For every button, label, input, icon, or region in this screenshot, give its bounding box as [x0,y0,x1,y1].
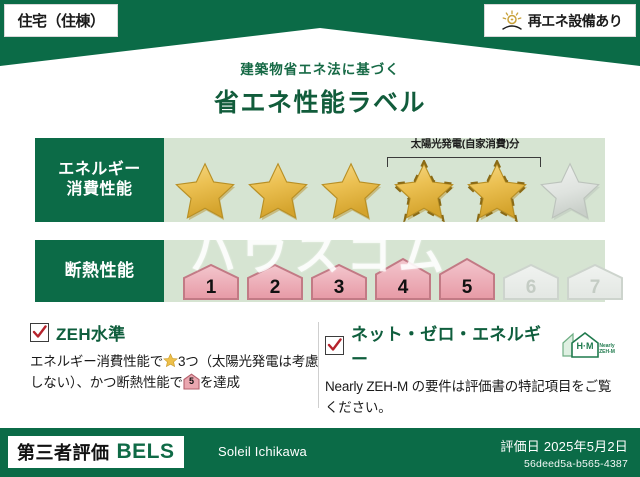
inline-star-icon [163,353,178,368]
insulation-grade-value: 1 [181,278,241,297]
title-subtitle: 建築物省エネ法に基づく [0,58,640,78]
star-filled [170,160,240,222]
svg-text:ZEH-M: ZEH-M [599,349,615,355]
zeh-title: ZEH水準 [56,320,126,345]
nze-checkbox [325,336,344,355]
bels-badge: 第三者評価 BELS [8,436,184,468]
zeh-standard-section: ZEH水準 エネルギー消費性能で3つ（太陽光発電は考慮しない）、かつ断熱性能で5… [30,320,320,394]
star-filled [243,160,313,222]
insulation-grade-2: 2 [245,262,305,302]
renewable-equipment-label: 再エネ設備あり [528,11,623,31]
svg-text:H·M: H·M [577,341,594,351]
insulation-grade-4: 4 [373,256,433,302]
insulation-performance-label: 断熱性能 [35,240,164,302]
insulation-grade-5: 5 [437,256,497,302]
energy-label-line2: 消費性能 [66,180,132,200]
zeh-checkbox [30,323,49,342]
insulation-grade-3: 3 [309,262,369,302]
nze-description: Nearly ZEH-M の要件は評価書の特記項目をご覧ください。 [325,377,617,419]
insulation-grade-value: 6 [501,278,561,297]
bels-jp-label: 第三者評価 [17,439,110,465]
insulation-performance-row: 断熱性能 1234567 [35,240,605,302]
star-solar [462,160,532,222]
evaluation-date: 評価日 2025年5月2日 [500,436,628,455]
insulation-label-text: 断熱性能 [65,260,135,282]
insulation-grade-scale: 1234567 [181,240,625,302]
net-zero-energy-section: ネット・ゼロ・エネルギー H·M Nearly ZEH-M Nearly ZEH… [325,320,617,419]
energy-performance-label: エネルギー 消費性能 [35,138,164,222]
energy-performance-row: エネルギー 消費性能 太陽光発電(自家消費)分 [35,138,605,222]
title-main: 省エネ性能ラベル [0,83,640,119]
footer-bar: 第三者評価 BELS Soleil Ichikawa 評価日 2025年5月2日… [0,428,640,477]
energy-star-rating [170,160,605,222]
zeh-desc-part1: エネルギー消費性能で [30,354,163,369]
nearly-zeh-m-logo-icon: H·M Nearly ZEH-M [561,330,617,360]
bels-en-label: BELS [117,440,175,464]
insulation-grade-value: 3 [309,278,369,297]
insulation-grade-7: 7 [565,262,625,302]
insulation-grade-6: 6 [501,262,561,302]
inline-grade-value: 5 [183,373,200,390]
insulation-grade-value: 7 [565,278,625,297]
solar-sun-icon [500,10,524,32]
dwelling-type-badge: 住宅（住棟） [4,4,118,37]
insulation-grade-value: 5 [437,278,497,297]
property-name: Soleil Ichikawa [218,444,307,459]
energy-label-card: 住宅（住棟） 再エネ設備あり 建築物省エネ法に基づく 省エネ性能ラベル ハウ [0,0,640,477]
star-empty [535,160,605,222]
nze-title: ネット・ゼロ・エネルギー [351,320,552,370]
zeh-header: ZEH水準 [30,320,320,345]
evaluation-id: 56deed5a-b565-4387 [500,458,628,470]
star-solar [389,160,459,222]
nze-header: ネット・ゼロ・エネルギー H·M Nearly ZEH-M [325,320,617,370]
zeh-description: エネルギー消費性能で3つ（太陽光発電は考慮しない）、かつ断熱性能で5を達成 [30,352,320,394]
zeh-desc-part3: を達成 [200,375,240,390]
star-filled [316,160,386,222]
energy-label-line1: エネルギー [58,160,141,180]
label-title-block: 建築物省エネ法に基づく 省エネ性能ラベル [0,58,640,119]
solar-generation-note: 太陽光発電(自家消費)分 [375,136,555,151]
insulation-grade-value: 4 [373,278,433,297]
inline-grade-badge: 5 [183,373,200,390]
insulation-grade-1: 1 [181,262,241,302]
evaluation-info: 評価日 2025年5月2日 56deed5a-b565-4387 [500,436,628,470]
insulation-grade-value: 2 [245,278,305,297]
energy-stars-area: 太陽光発電(自家消費)分 [170,138,601,222]
dwelling-type-label: 住宅（住棟） [17,10,104,31]
renewable-equipment-badge: 再エネ設備あり [484,4,636,37]
